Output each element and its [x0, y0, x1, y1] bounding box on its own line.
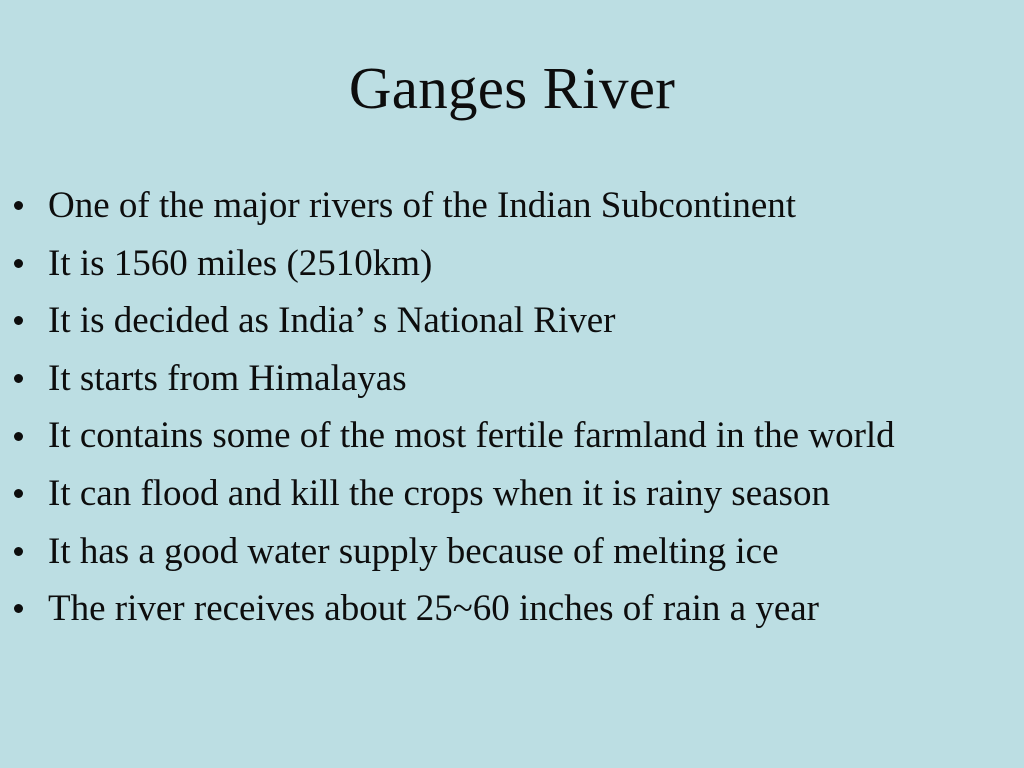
list-item: It starts from Himalayas	[0, 350, 1024, 408]
presentation-slide: Ganges River One of the major rivers of …	[0, 0, 1024, 768]
list-item: One of the major rivers of the Indian Su…	[0, 177, 1024, 235]
list-item: It contains some of the most fertile far…	[0, 407, 1024, 465]
slide-title: Ganges River	[0, 54, 1024, 122]
list-item: It is 1560 miles (2510km)	[0, 235, 1024, 293]
bullet-disc-icon	[14, 604, 23, 613]
list-item-label: One of the major rivers of the Indian Su…	[48, 185, 796, 226]
bullet-disc-icon	[14, 432, 23, 441]
list-item: The river receives about 25~60 inches of…	[0, 580, 1024, 638]
list-item-label: It is decided as India’ s National River	[48, 300, 616, 341]
list-item-label: It can flood and kill the crops when it …	[48, 473, 830, 514]
list-item-label: The river receives about 25~60 inches of…	[48, 588, 819, 629]
bullet-disc-icon	[14, 201, 23, 210]
list-item: It is decided as India’ s National River	[0, 292, 1024, 350]
list-item-label: It has a good water supply because of me…	[48, 531, 779, 572]
bullet-disc-icon	[14, 259, 23, 268]
list-item-label: It starts from Himalayas	[48, 358, 407, 399]
list-item-label: It contains some of the most fertile far…	[48, 415, 895, 456]
bullet-disc-icon	[14, 374, 23, 383]
list-item: It has a good water supply because of me…	[0, 523, 1024, 581]
bullet-disc-icon	[14, 547, 23, 556]
list-item: It can flood and kill the crops when it …	[0, 465, 1024, 523]
bullet-disc-icon	[14, 316, 23, 325]
list-item-label: It is 1560 miles (2510km)	[48, 243, 432, 284]
bullet-disc-icon	[14, 489, 23, 498]
slide-bullet-list: One of the major rivers of the Indian Su…	[0, 177, 1024, 638]
